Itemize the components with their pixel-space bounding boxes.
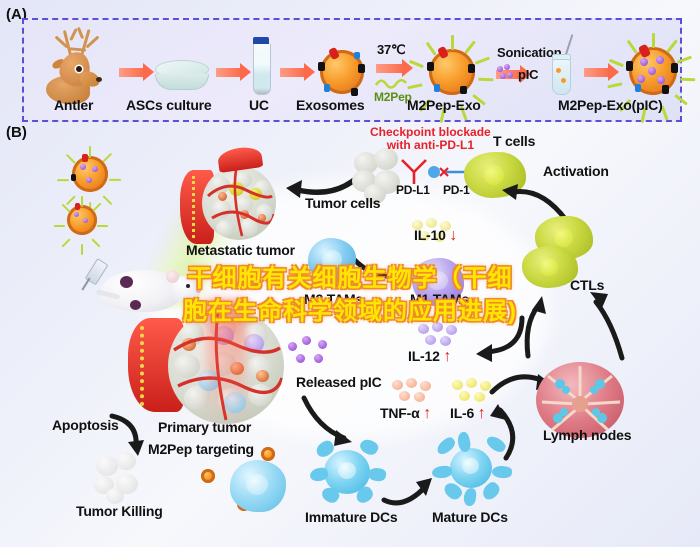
tumor-cells-label: Tumor cells (305, 196, 380, 210)
primary-tumor-label: Primary tumor (158, 420, 251, 434)
released-pic-dots (288, 336, 344, 368)
checkpoint-line-1: Checkpoint blockade (370, 125, 491, 139)
il10-label: IL-10 ↓ (414, 228, 457, 244)
targeted-macrophage-icon (226, 456, 292, 516)
process-arrow (216, 68, 242, 77)
centrifuge-tube-icon (253, 37, 271, 99)
process-arrow (280, 68, 306, 77)
nanoparticle-icon (198, 466, 218, 486)
arrow-immature-to-mature (382, 476, 438, 510)
primary-tumor-icon (128, 300, 308, 430)
dying-tumor-cell-icon (92, 452, 148, 504)
activation-label: Activation (543, 164, 609, 178)
exosome-icon (314, 44, 370, 100)
lymph-nodes-label: Lymph nodes (543, 428, 631, 442)
temperature-label: 37℃ (377, 43, 405, 56)
immature-dcs-label: Immature DCs (305, 510, 398, 524)
immature-dc-icon (310, 438, 386, 508)
checkpoint-blockade-label: Checkpoint blockade with anti-PD-L1 (370, 126, 491, 153)
il12-arrow: ↑ (443, 348, 451, 365)
eppendorf-tube-icon (548, 34, 578, 96)
apoptosis-label: Apoptosis (52, 418, 119, 432)
tumor-killing-label: Tumor Killing (76, 504, 163, 518)
pdl1-label: PD-L1 (396, 184, 430, 196)
figure-root: (A) (0, 0, 700, 547)
tnfa-arrow: ↑ (423, 405, 431, 422)
pic-label: pIC (518, 68, 538, 81)
m2-tam-icon (306, 236, 360, 286)
petri-dish-icon (155, 60, 209, 94)
step-label-m2pep-exo: M2Pep-Exo (407, 98, 481, 112)
step-label-m2pep-exo-pic: M2Pep-Exo(pIC) (558, 98, 663, 112)
mature-dcs-label: Mature DCs (432, 510, 508, 524)
released-pic-label: Released pIC (296, 375, 382, 389)
deer-icon (46, 26, 116, 108)
il10-arrow: ↓ (449, 227, 457, 244)
mature-dc-icon (432, 432, 512, 506)
panel-b-tag: (B) (6, 124, 27, 141)
pd1-label: PD-1 (443, 184, 470, 196)
arrow-il12-up (466, 316, 528, 364)
m2-tams-label: M2 TAMs (304, 292, 363, 306)
process-arrow (584, 68, 610, 77)
process-arrow (376, 64, 404, 73)
step-label-exosomes: Exosomes (296, 98, 364, 112)
metastatic-tumor-icon (180, 156, 288, 252)
checkpoint-line-2: with anti-PD-L1 (387, 138, 474, 152)
il10-name: IL-10 (414, 227, 446, 243)
tnfa-name: TNF-α (380, 405, 419, 421)
metastatic-tumor-label: Metastatic tumor (186, 243, 295, 257)
m2pep-targeting-label: M2Pep targeting (148, 442, 254, 456)
step-label-ascs-culture: ASCs culture (126, 98, 212, 112)
m1-tams-label: M1 TAMs (410, 292, 469, 306)
il12-name: IL-12 (408, 348, 440, 364)
t-cells-label: T cells (493, 134, 535, 148)
panel-a-container: 37℃ M2Pep Sonication (22, 18, 682, 122)
tnfa-label: TNF-α ↑ (380, 406, 431, 422)
il6-name: IL-6 (450, 405, 474, 421)
ctls-label: CTLs (570, 278, 604, 292)
il12-cytokine-dots (418, 322, 464, 348)
tnfa-cytokine-dots (392, 378, 438, 404)
il12-label: IL-12 ↑ (408, 349, 451, 365)
nanoparticle-icon (62, 146, 118, 202)
step-label-antler: Antler (54, 98, 93, 112)
arrow-to-ctls-right (582, 292, 638, 362)
step-label-uc: UC (249, 98, 269, 112)
process-arrow (119, 68, 145, 77)
